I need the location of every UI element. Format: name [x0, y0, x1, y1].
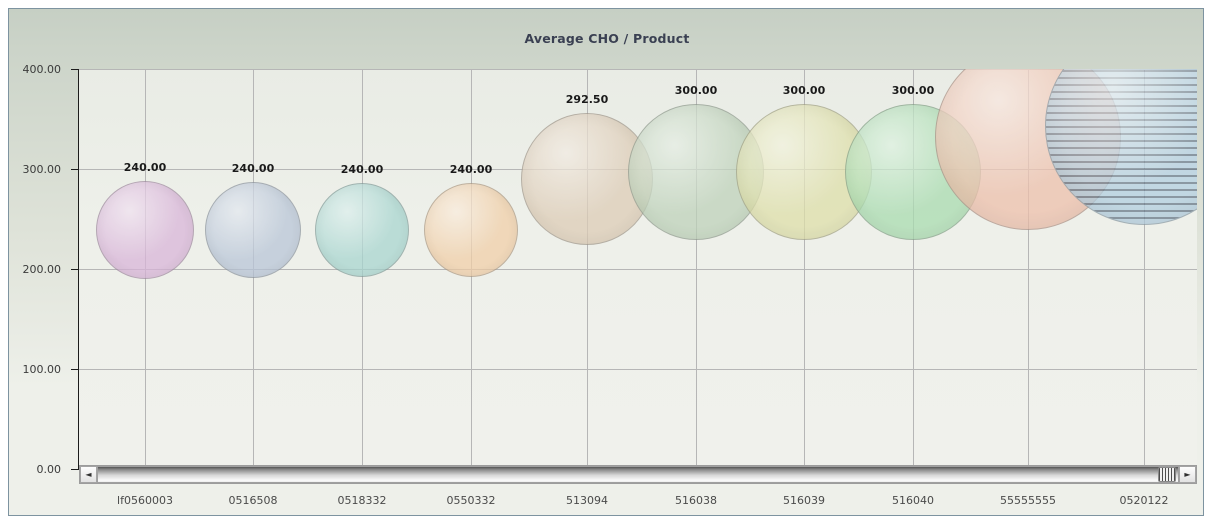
scrollbar-track[interactable]: [97, 466, 1179, 483]
y-tick-400: [71, 69, 79, 70]
x-axis-label-0550332: 0550332: [447, 494, 496, 507]
bubble-0550332[interactable]: [424, 183, 518, 277]
y-tick-100: [71, 369, 79, 370]
scrollbar-resize-grip[interactable]: [1158, 467, 1176, 482]
bubble-lf0560003[interactable]: [96, 181, 194, 279]
bubble-sheen: [206, 183, 300, 277]
x-axis-label-516038: 516038: [675, 494, 717, 507]
bubble-0518332[interactable]: [315, 183, 409, 277]
data-label-0516508: 240.00: [232, 162, 274, 175]
y-axis-label-100: 100.00: [23, 363, 62, 376]
scrollbar-thumb[interactable]: [97, 466, 1179, 483]
gridline-y-100: [79, 369, 1197, 370]
y-axis-label-200: 200.00: [23, 263, 62, 276]
y-tick-0: [71, 469, 79, 470]
data-label-513094: 292.50: [566, 93, 608, 106]
data-label-516040: 300.00: [892, 84, 934, 97]
bubble-sheen: [316, 184, 408, 276]
data-label-lf0560003: 240.00: [124, 161, 166, 174]
data-label-0518332: 240.00: [341, 163, 383, 176]
scroll-right-arrow-icon[interactable]: ►: [1179, 466, 1196, 483]
data-label-516038: 300.00: [675, 84, 717, 97]
x-axis-label-516039: 516039: [783, 494, 825, 507]
chart-title: Average CHO / Product: [9, 31, 1204, 46]
chart-panel: Average CHO / Product 400.00 300.00 200.…: [8, 8, 1204, 516]
x-axis-label-513094: 513094: [566, 494, 608, 507]
y-axis-label-0: 0.00: [37, 463, 62, 476]
y-axis-label-300: 300.00: [23, 163, 62, 176]
y-tick-200: [71, 269, 79, 270]
bubble-0516508[interactable]: [205, 182, 301, 278]
horizontal-scrollbar[interactable]: ◄ ►: [79, 465, 1197, 484]
x-axis-label-0520122: 0520122: [1120, 494, 1169, 507]
x-axis-label-55555555: 55555555: [1000, 494, 1056, 507]
data-label-0550332: 240.00: [450, 163, 492, 176]
data-label-516039: 300.00: [783, 84, 825, 97]
x-axis-label-516040: 516040: [892, 494, 934, 507]
y-axis-label-400: 400.00: [23, 63, 62, 76]
x-axis-label-0516508: 0516508: [229, 494, 278, 507]
y-tick-300: [71, 169, 79, 170]
x-axis-label-lf0560003: lf0560003: [117, 494, 173, 507]
bubble-sheen: [97, 182, 193, 278]
scroll-left-arrow-icon[interactable]: ◄: [80, 466, 97, 483]
x-axis-label-0518332: 0518332: [338, 494, 387, 507]
plot-area[interactable]: [79, 69, 1197, 469]
bubble-sheen: [425, 184, 517, 276]
